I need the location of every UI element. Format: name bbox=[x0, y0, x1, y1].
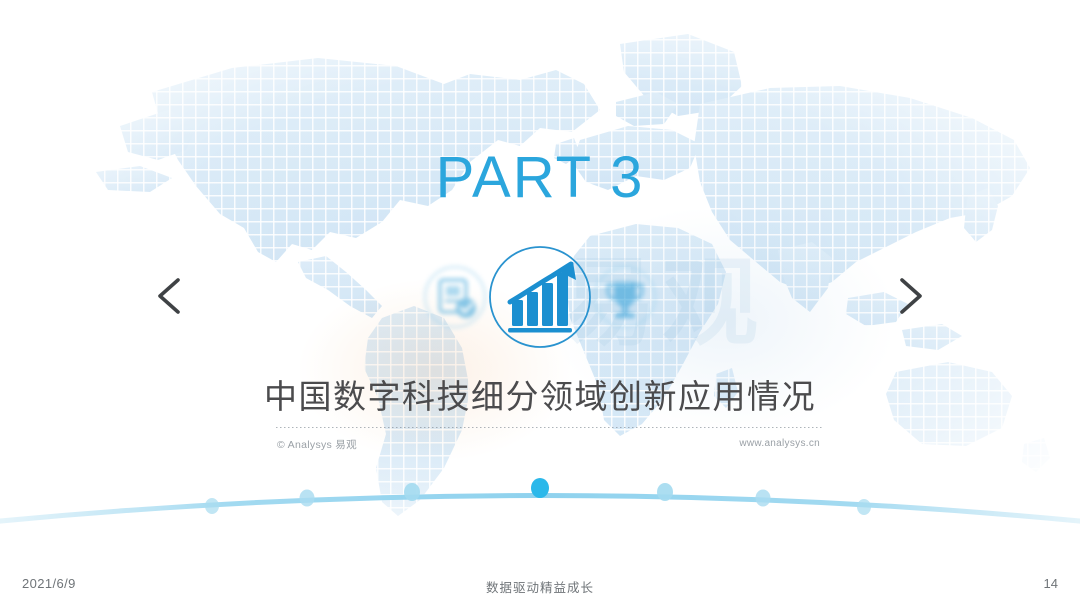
copyright-label: © Analysys 易观 bbox=[277, 437, 357, 452]
page-title: 中国数字科技细分领域创新应用情况 bbox=[0, 370, 1080, 418]
prev-slide-chevron-icon[interactable] bbox=[148, 272, 194, 320]
trophy-icon bbox=[586, 258, 664, 336]
progress-dots bbox=[205, 478, 871, 515]
progress-arc bbox=[0, 455, 1080, 555]
title-divider bbox=[276, 427, 822, 428]
website-url[interactable]: www.analysys.cn bbox=[739, 438, 820, 449]
page-number: 14 bbox=[1044, 576, 1058, 591]
slide-footer: 2021/6/9 数据驱动精益成长 14 bbox=[0, 568, 1080, 608]
next-slide-chevron-icon[interactable] bbox=[886, 272, 932, 320]
slide-canvas: 易观 PART 3 bbox=[0, 0, 1080, 608]
part-label: PART 3 bbox=[0, 148, 1080, 209]
footer-tagline: 数据驱动精益成长 bbox=[0, 577, 1080, 596]
icon-cluster bbox=[410, 240, 670, 355]
